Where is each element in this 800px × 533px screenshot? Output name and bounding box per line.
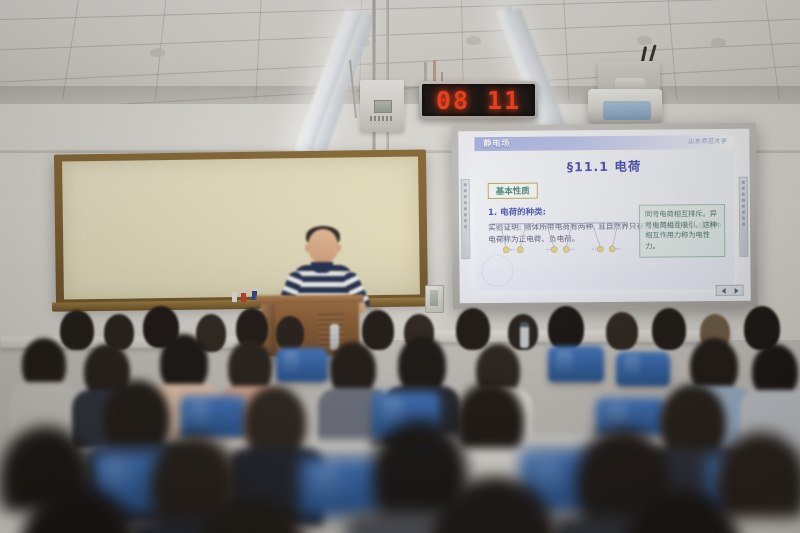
- water-bottle: [520, 322, 529, 348]
- next-slide-icon[interactable]: [734, 287, 738, 293]
- instructor-ear: [336, 244, 341, 252]
- student: [398, 336, 446, 394]
- decorative-circle: [481, 255, 513, 287]
- slide-side-note: 同号电荷相互排斥。异号电荷相互吸引。这种相互作用力称为电性力。: [639, 204, 725, 258]
- slide-header-band: 静电场 山东师范大学: [474, 135, 733, 151]
- student: [276, 316, 304, 350]
- student: [606, 312, 638, 350]
- clock-hours: 08: [436, 86, 470, 115]
- student: [196, 496, 308, 533]
- projected-slide: 静电场 山东师范大学 §11.1 电荷 基本性质 1. 电荷的种类: 实验证明:…: [474, 135, 734, 291]
- instructor-ear: [305, 244, 310, 252]
- student: [244, 386, 306, 458]
- student: [20, 486, 138, 533]
- instructor-collar: [311, 262, 333, 273]
- student: [622, 490, 742, 533]
- control-box-display: [374, 100, 392, 113]
- ceiling-speaker-icon: [711, 38, 726, 47]
- iwb-right-toolbar[interactable]: [739, 177, 749, 257]
- cream-whiteboard: [54, 149, 428, 306]
- projector-lens-icon: [603, 101, 651, 120]
- control-box-label: [370, 116, 394, 121]
- slide-navigation[interactable]: [716, 285, 744, 296]
- students: [0, 300, 800, 533]
- instructor-head: [308, 229, 338, 263]
- slide-header-title: 静电场: [483, 138, 510, 149]
- iwb-surface[interactable]: 静电场 山东师范大学 §11.1 电荷 基本性质 1. 电荷的种类: 实验证明:…: [458, 129, 750, 304]
- ceiling-speaker-icon: [150, 48, 165, 57]
- student: [548, 306, 584, 350]
- clock-face: 08 11: [422, 84, 535, 116]
- university-logo: 山东师范大学: [688, 136, 729, 145]
- lecture-chair[interactable]: [276, 348, 328, 382]
- student: [432, 476, 558, 533]
- ceiling-speaker-icon: [466, 36, 481, 45]
- classroom-photo: 08 11 静电场 山东师范大学 §11.1 电荷: [0, 0, 800, 533]
- student: [652, 308, 686, 350]
- clock-minutes: 11: [487, 86, 521, 115]
- lecture-chair[interactable]: [548, 346, 604, 382]
- student: [330, 342, 376, 396]
- whiteboard-surface[interactable]: [62, 157, 420, 300]
- prev-slide-icon[interactable]: [721, 287, 725, 293]
- slide-title: §11.1 电荷: [474, 155, 733, 176]
- iwb-left-toolbar[interactable]: [461, 179, 471, 259]
- ceiling-speaker-icon: [637, 36, 652, 45]
- interactive-whiteboard[interactable]: 静电场 山东师范大学 §11.1 电荷 基本性质 1. 电荷的种类: 实验证明:…: [451, 123, 758, 310]
- slide-section-tag: 基本性质: [488, 183, 538, 199]
- student: [752, 344, 798, 398]
- student: [22, 338, 66, 390]
- pendulum-charge-diagram: [490, 220, 630, 261]
- lecture-chair[interactable]: [616, 352, 670, 386]
- digital-wall-clock: 08 11: [419, 81, 538, 119]
